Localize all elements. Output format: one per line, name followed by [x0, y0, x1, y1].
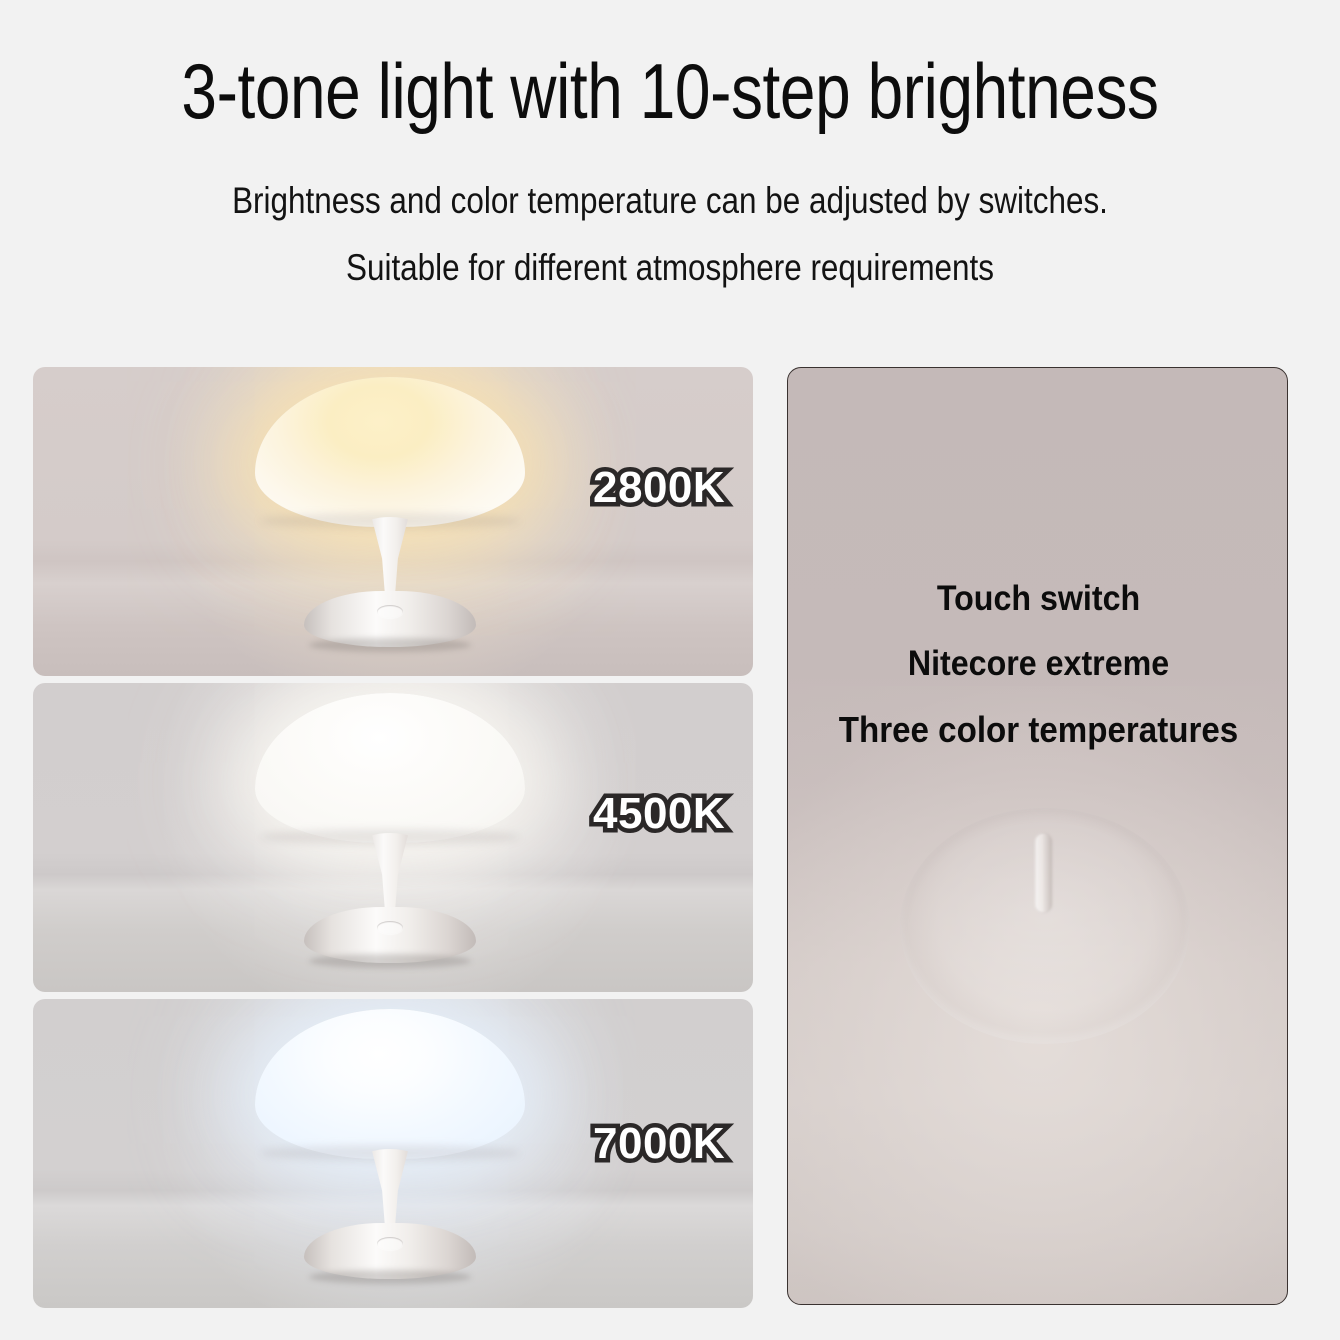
power-button-icon [946, 828, 1141, 1023]
scene-gallery: 2800K 4500K 7000K [33, 367, 753, 1308]
mushroom-lamp-icon [255, 1009, 525, 1294]
subtitle-line-1: Brightness and color temperature can be … [101, 182, 1240, 219]
scene-panel-4500k: 4500K [33, 683, 753, 992]
lamp-dome [255, 377, 525, 527]
scene-panel-2800k: 2800K [33, 367, 753, 676]
lamp-dome [255, 1009, 525, 1159]
power-icon-bar [1036, 834, 1051, 912]
lamp-dome [255, 693, 525, 843]
feature-item-three-color-temperatures: Three color temperatures [808, 712, 1269, 748]
lamp-power-button [377, 1237, 403, 1250]
status-badge: 2800K [593, 463, 725, 513]
feature-item-touch-switch: Touch switch [808, 581, 1269, 616]
feature-list: Touch switch Nitecore extreme Three colo… [788, 581, 1288, 748]
status-badge: 4500K [593, 789, 725, 839]
mushroom-lamp-icon [255, 377, 525, 662]
content-area: 2800K 4500K 7000K [0, 367, 1340, 1312]
feature-item-nitecore-extreme: Nitecore extreme [808, 646, 1269, 681]
page-title: 3-tone light with 10-step brightness [121, 0, 1220, 130]
feature-panel: Touch switch Nitecore extreme Three colo… [787, 367, 1288, 1305]
status-badge: 7000K [593, 1119, 725, 1169]
scene-panel-7000k: 7000K [33, 999, 753, 1308]
subtitle-line-2: Suitable for different atmosphere requir… [101, 249, 1240, 286]
lamp-base [304, 591, 476, 647]
lamp-base [304, 907, 476, 963]
header: 3-tone light with 10-step brightness Bri… [0, 0, 1340, 286]
lamp-power-button [377, 605, 403, 618]
lamp-power-button [377, 921, 403, 934]
mushroom-lamp-icon [255, 693, 525, 978]
lamp-base [304, 1223, 476, 1279]
